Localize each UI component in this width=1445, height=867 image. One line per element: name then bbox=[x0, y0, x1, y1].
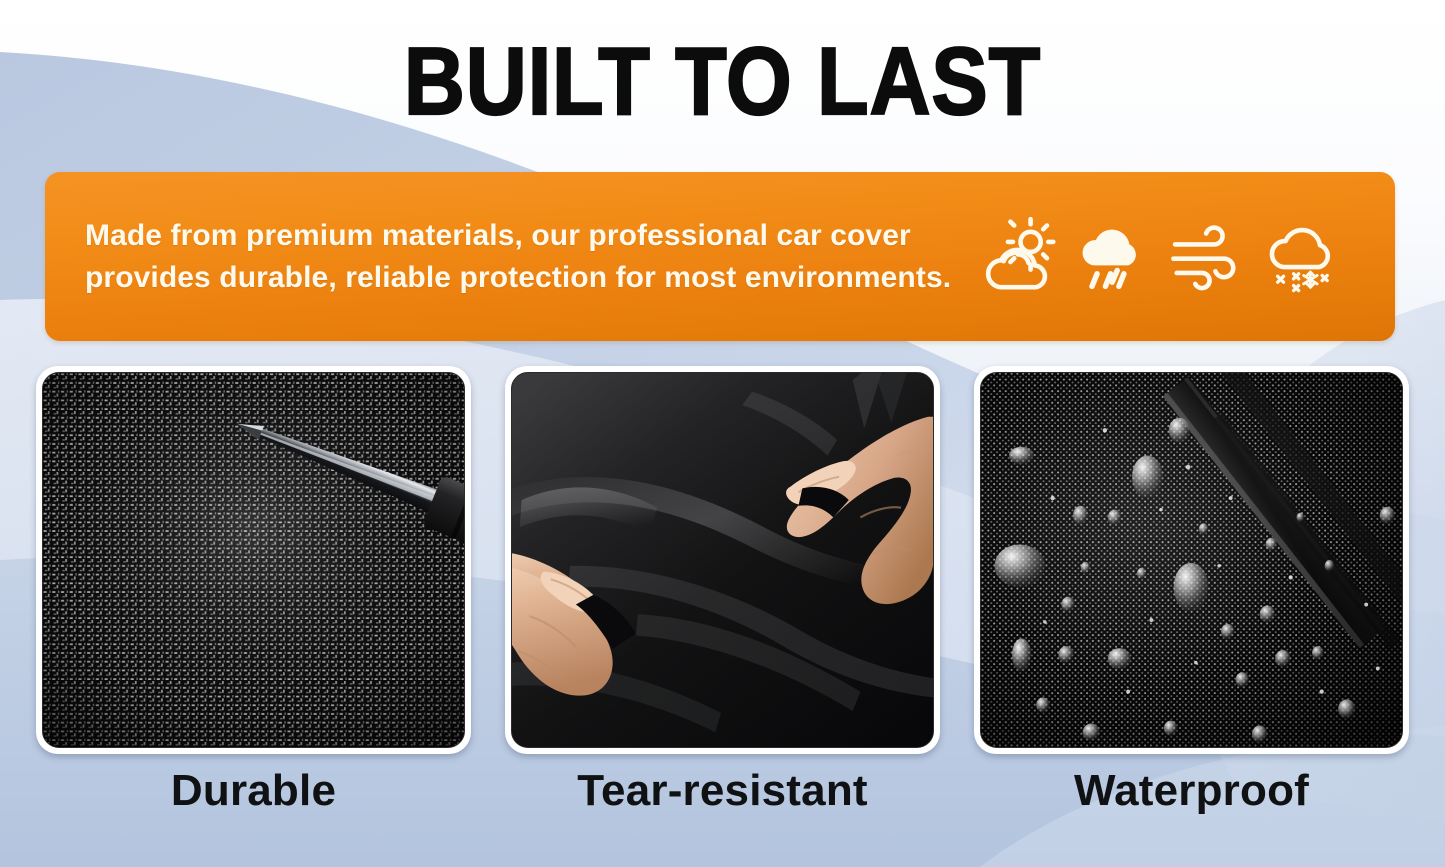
feature-image-frame bbox=[42, 372, 465, 748]
waterproof-water-beading-photo bbox=[981, 373, 1402, 747]
wind-icon bbox=[1165, 215, 1249, 299]
sun-behind-cloud-icon bbox=[976, 215, 1060, 299]
feature-panel-waterproof bbox=[974, 366, 1409, 754]
promo-banner: Made from premium materials, our profess… bbox=[45, 172, 1395, 341]
feature-panel-row bbox=[36, 366, 1409, 756]
rain-cloud-icon bbox=[1071, 215, 1155, 299]
feature-caption-row: Durable Tear-resistant Waterproof bbox=[36, 762, 1409, 826]
snow-cloud-icon bbox=[1260, 215, 1344, 299]
feature-image-frame bbox=[511, 372, 934, 748]
caption-tear-resistant: Tear-resistant bbox=[505, 762, 940, 826]
caption-durable: Durable bbox=[36, 762, 471, 826]
infographic-canvas: BUILT TO LAST Made from premium material… bbox=[0, 0, 1445, 867]
durable-fabric-screwdriver-photo bbox=[43, 373, 464, 747]
weather-icon-row bbox=[965, 215, 1395, 299]
feature-panel-tear-resistant bbox=[505, 366, 940, 754]
page-title: BUILT TO LAST bbox=[87, 30, 1359, 134]
caption-waterproof: Waterproof bbox=[974, 762, 1409, 826]
banner-description: Made from premium materials, our profess… bbox=[45, 215, 965, 299]
feature-panel-durable bbox=[36, 366, 471, 754]
feature-image-frame bbox=[980, 372, 1403, 748]
tear-resistant-hands-stretching-photo bbox=[512, 373, 933, 747]
